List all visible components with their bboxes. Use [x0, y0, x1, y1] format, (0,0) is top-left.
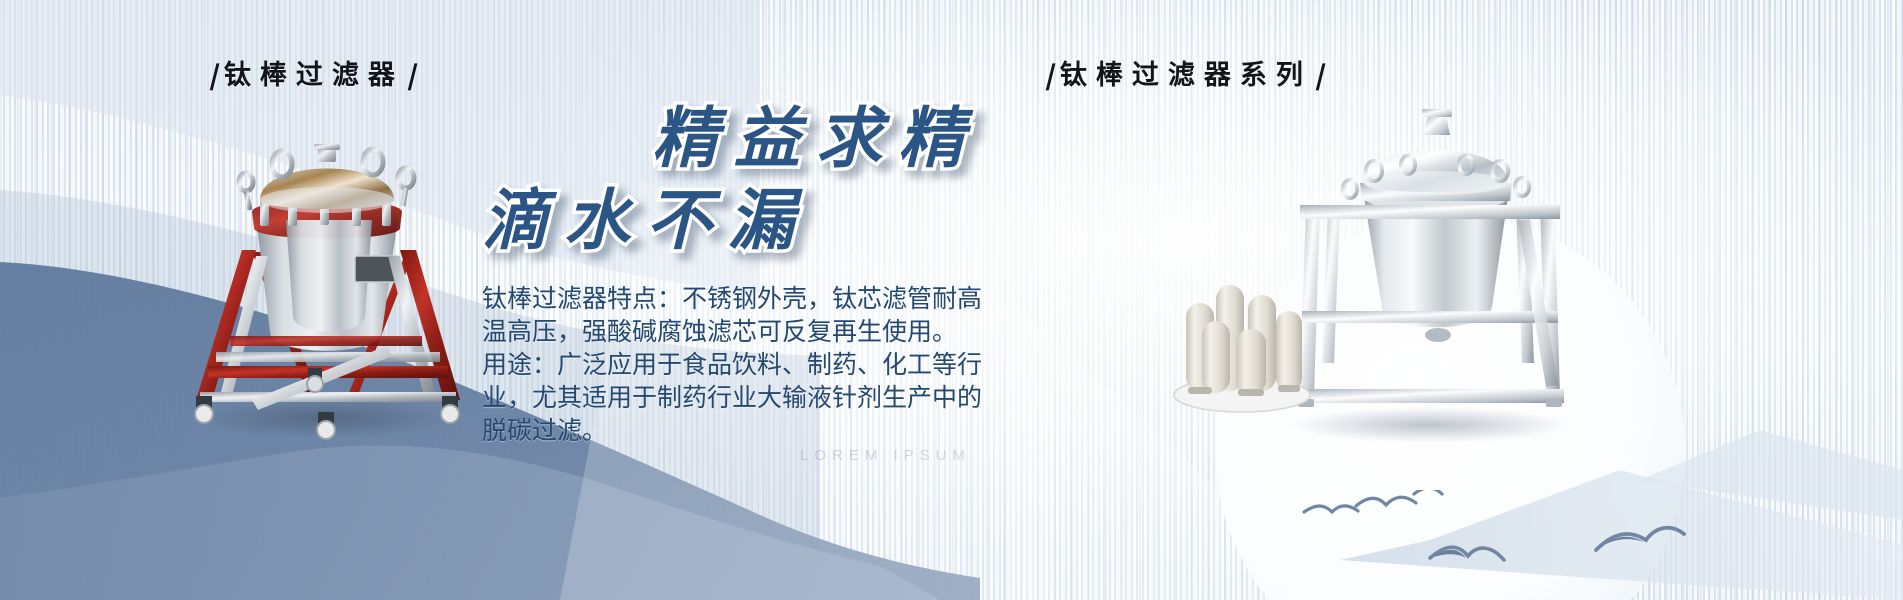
kicker-right-bar-end: |	[1312, 60, 1330, 91]
watermark-text: LOREM IPSUM	[800, 447, 971, 464]
body-copy-line-2: 温高压，强酸碱腐蚀滤芯可反复再生使用。	[482, 315, 1002, 348]
kicker-left: |钛棒过滤器|	[206, 53, 422, 92]
bird-silhouettes-decoration	[1300, 490, 1740, 600]
kicker-right-bar-start: |	[1042, 60, 1060, 91]
body-copy-line-1: 钛棒过滤器特点：不锈钢外壳，钛芯滤管耐高	[482, 282, 1002, 315]
kicker-right-label: 钛棒过滤器系列	[1060, 60, 1312, 91]
product-banner: |钛棒过滤器| |钛棒过滤器系列| 精益求精 滴水不漏 钛棒过滤器特点：不锈钢外…	[0, 0, 1903, 600]
product-image-right-filter	[1150, 95, 1590, 455]
kicker-left-bar-end: |	[404, 60, 422, 91]
kicker-left-bar-start: |	[206, 60, 224, 91]
kicker-left-label: 钛棒过滤器	[224, 60, 404, 91]
body-copy-line-3: 用途：广泛应用于食品饮料、制药、化工等行	[482, 348, 1002, 381]
body-copy-line-4: 业，尤其适用于制药行业大输液针剂生产中的	[482, 381, 1002, 414]
body-copy-line-5: 脱碳过滤。	[482, 414, 1002, 447]
product-image-left-filter	[160, 100, 480, 440]
headline-line-2: 滴水不漏	[482, 167, 810, 263]
kicker-right: |钛棒过滤器系列|	[1042, 53, 1330, 92]
body-copy: 钛棒过滤器特点：不锈钢外壳，钛芯滤管耐高 温高压，强酸碱腐蚀滤芯可反复再生使用。…	[482, 282, 1002, 447]
